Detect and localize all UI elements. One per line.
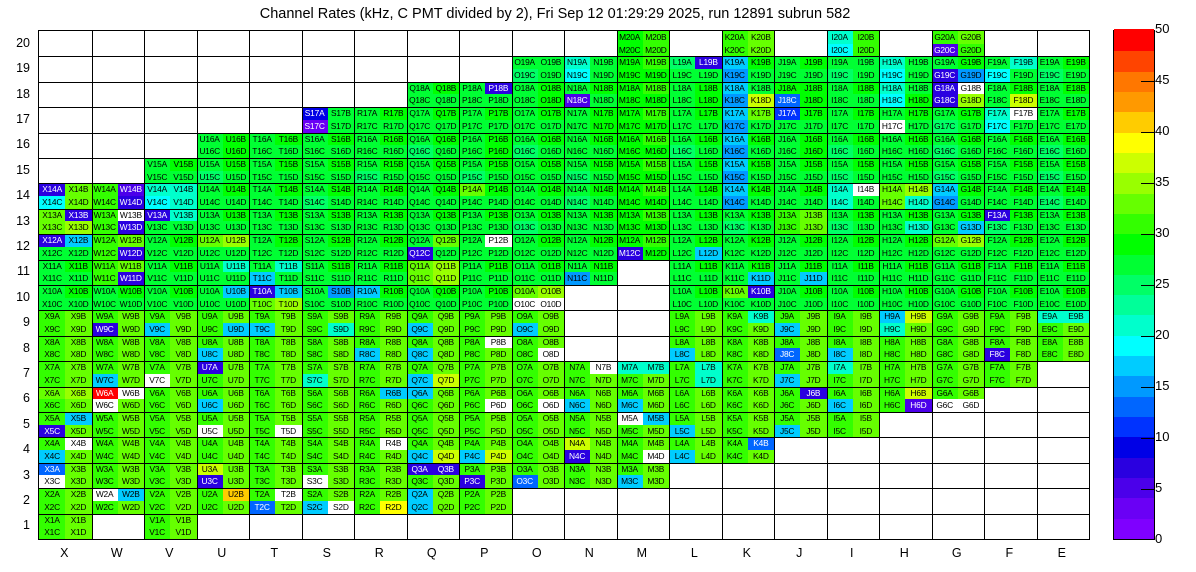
channel-pad: V15A [144, 158, 170, 171]
channel-pad: T2A [249, 488, 275, 501]
channel-pad: L11B [695, 260, 721, 273]
channel-pad: L12B [695, 234, 721, 247]
heatmap-cell: Q5AQ5BQ5CQ5D [407, 412, 460, 437]
channel-pad: Q15C [407, 171, 433, 184]
heatmap-cell: Q9AQ9BQ9CQ9D [407, 310, 460, 335]
channel-pad: S10B [328, 285, 354, 298]
channel-pad: K5B [748, 412, 774, 425]
channel-pad: P2A [459, 488, 485, 501]
channel-pad: F13C [984, 221, 1010, 234]
channel-pad: P15C [459, 171, 485, 184]
channel-pad: P8A [459, 336, 485, 349]
channel-pad: Q4B [433, 437, 459, 450]
channel-pad: H8C [879, 348, 905, 361]
channel-pad: L6D [695, 399, 721, 412]
x-tick-label: G [931, 546, 984, 560]
channel-pad: G18C [932, 94, 958, 107]
channel-pad: L17D [695, 120, 721, 133]
heatmap-cell: K9AK9BK9CK9D [722, 310, 775, 335]
channel-pad: L9B [695, 310, 721, 323]
channel-pad: T13D [275, 221, 301, 234]
channel-pad: O5B [538, 412, 564, 425]
channel-pad: X14C [39, 196, 65, 209]
channel-pad: Q2B [433, 488, 459, 501]
heatmap-cell: U6AU6BU6CU6D [197, 387, 250, 412]
channel-pad: R17A [354, 107, 380, 120]
channel-pad: M18D [643, 94, 669, 107]
heatmap-cell: N4AN4BN4CN4D [564, 437, 617, 462]
channel-pad: M13B [643, 209, 669, 222]
channel-pad: V5D [170, 425, 196, 438]
channel-pad: T2B [275, 488, 301, 501]
channel-pad: R14B [380, 183, 406, 196]
heatmap-cell: U7AU7BU7CU7D [197, 361, 250, 386]
heatmap-cell: J18AJ18BJ18CJ18D [774, 82, 827, 107]
channel-pad: Q14D [433, 196, 459, 209]
channel-pad: V14C [144, 196, 170, 209]
channel-pad: V10A [144, 285, 170, 298]
channel-pad: J13D [800, 221, 826, 234]
heatmap-cell: I15AI15BI15CI15D [827, 158, 880, 183]
channel-pad: T10C [249, 298, 275, 311]
heatmap-cell: R9AR9BR9CR9D [354, 310, 407, 335]
heatmap-cell: I7AI7BI7CI7D [827, 361, 880, 386]
x-tick-label: K [721, 546, 774, 560]
channel-pad: G15A [932, 158, 958, 171]
channel-pad: I8C [827, 348, 853, 361]
channel-pad: V11B [170, 260, 196, 273]
channel-pad: U10B [223, 285, 249, 298]
channel-pad: R7D [380, 374, 406, 387]
y-tick-label: 12 [0, 239, 30, 253]
channel-pad: G17B [958, 107, 984, 120]
channel-pad: R6D [380, 399, 406, 412]
channel-pad: O9D [538, 323, 564, 336]
channel-pad: L7B [695, 361, 721, 374]
channel-pad: I5D [853, 425, 879, 438]
channel-pad: H14C [879, 196, 905, 209]
heatmap-cell: V15AV15BV15CV15D [144, 158, 197, 183]
x-tick-label: J [773, 546, 826, 560]
channel-pad: H15A [879, 158, 905, 171]
heatmap-cell: E16AE16BE16CE16D [1037, 133, 1090, 158]
heatmap-cell: I8AI8BI8CI8D [827, 336, 880, 361]
channel-pad: J10D [800, 298, 826, 311]
channel-pad: E10B [1063, 285, 1089, 298]
channel-pad: K16A [722, 133, 748, 146]
heatmap-cell: G16AG16BG16CG16D [932, 133, 985, 158]
channel-pad: L16B [695, 133, 721, 146]
channel-pad: N18A [564, 82, 590, 95]
channel-pad: M16B [643, 133, 669, 146]
channel-pad: T3C [249, 475, 275, 488]
channel-pad: J15B [800, 158, 826, 171]
channel-pad: N12C [564, 247, 590, 260]
channel-pad: K13A [722, 209, 748, 222]
heatmap-cell: M3AM3BM3CM3D [617, 463, 670, 488]
channel-pad: F12D [1010, 247, 1036, 260]
channel-pad: G13A [932, 209, 958, 222]
channel-pad: I7C [827, 374, 853, 387]
channel-pad: P5C [459, 425, 485, 438]
channel-pad: I7B [853, 361, 879, 374]
channel-pad: K15D [748, 171, 774, 184]
channel-pad: Q8C [407, 348, 433, 361]
channel-pad: V10B [170, 285, 196, 298]
channel-pad: K6A [722, 387, 748, 400]
channel-pad: T3B [275, 463, 301, 476]
channel-pad: M7B [643, 361, 669, 374]
grid-row-separator [39, 514, 1089, 515]
x-tick-label: E [1036, 546, 1089, 560]
heatmap-cell: R16AR16BR16CR16D [354, 133, 407, 158]
channel-pad: H11D [905, 272, 931, 285]
channel-pad: G15D [958, 171, 984, 184]
heatmap-cell: U13AU13BU13CU13D [197, 209, 250, 234]
heatmap-cell: V6AV6BV6CV6D [144, 387, 197, 412]
channel-pad: F16A [984, 133, 1010, 146]
channel-pad: G14C [932, 196, 958, 209]
channel-pad: K7A [722, 361, 748, 374]
channel-pad: N16D [590, 145, 616, 158]
channel-pad: S3D [328, 475, 354, 488]
channel-pad: O11C [512, 272, 538, 285]
channel-pad: W11B [118, 260, 144, 273]
heatmap-cell: N3AN3BN3CN3D [564, 463, 617, 488]
channel-pad: S4D [328, 450, 354, 463]
channel-pad: P9C [459, 323, 485, 336]
channel-pad: E11A [1037, 260, 1063, 273]
channel-pad: P18A [459, 82, 485, 95]
heatmap-cell: P13AP13BP13CP13D [459, 209, 512, 234]
channel-pad: K10D [748, 298, 774, 311]
channel-pad: S9C [302, 323, 328, 336]
channel-pad: X5A [39, 412, 65, 425]
channel-pad: T16D [275, 145, 301, 158]
channel-pad: U8D [223, 348, 249, 361]
channel-pad: O6D [538, 399, 564, 412]
channel-pad: X3C [39, 475, 65, 488]
heatmap-cell: U11AU11BU11CU11D [197, 260, 250, 285]
channel-pad: O17C [512, 120, 538, 133]
channel-pad: Q8B [433, 336, 459, 349]
heatmap-cell: R7AR7BR7CR7D [354, 361, 407, 386]
heatmap-cell: S16AS16BS16CS16D [302, 133, 355, 158]
channel-pad: J14D [800, 196, 826, 209]
channel-pad: K4A [722, 437, 748, 450]
channel-pad: T4C [249, 450, 275, 463]
channel-pad: R11D [380, 272, 406, 285]
channel-pad: P18C [459, 94, 485, 107]
channel-pad: H18A [879, 82, 905, 95]
channel-pad: J16D [800, 145, 826, 158]
channel-pad: V7B [170, 361, 196, 374]
channel-pad: Q11C [407, 272, 433, 285]
channel-pad: X4C [39, 450, 65, 463]
channel-pad: N19A [564, 56, 590, 69]
heatmap-cell: N5AN5BN5CN5D [564, 412, 617, 437]
x-tick-label: T [248, 546, 301, 560]
color-swatch [1114, 375, 1154, 397]
channel-pad: I12A [827, 234, 853, 247]
heatmap-cell: O6AO6BO6CO6D [512, 387, 565, 412]
channel-pad: R8A [354, 336, 380, 349]
channel-pad: X11B [65, 260, 91, 273]
colorbar-tick-label: 45 [1155, 72, 1169, 87]
channel-pad: S5B [328, 412, 354, 425]
heatmap-cell: L10AL10BL10CL10D [669, 285, 722, 310]
heatmap-cell: S11AS11BS11CS11D [302, 260, 355, 285]
channel-pad: R2D [380, 501, 406, 514]
heatmap-cell: W8AW8BW8CW8D [92, 336, 145, 361]
heatmap-cell: I9AI9BI9CI9D [827, 310, 880, 335]
channel-pad: G12C [932, 247, 958, 260]
y-tick-label: 6 [0, 391, 30, 405]
channel-pad: G18D [958, 94, 984, 107]
channel-pad: U3C [197, 475, 223, 488]
channel-pad: O4C [512, 450, 538, 463]
grid-row-separator [39, 285, 1089, 286]
heatmap-cell: Q14AQ14BQ14CQ14D [407, 183, 460, 208]
heatmap-cell: O17AO17BO17CO17D [512, 107, 565, 132]
channel-pad: I7D [853, 374, 879, 387]
channel-pad: S2C [302, 501, 328, 514]
channel-pad: M16A [617, 133, 643, 146]
channel-pad: N19B [590, 56, 616, 69]
channel-pad: X11D [65, 272, 91, 285]
heatmap-cell: M20AM20BM20CM20D [617, 31, 670, 56]
channel-pad: J5C [774, 425, 800, 438]
heatmap-cell: L16AL16BL16CL16D [669, 133, 722, 158]
channel-pad: K14A [722, 183, 748, 196]
channel-pad: P10D [485, 298, 511, 311]
heatmap-cell: W14AW14BW14CW14D [92, 183, 145, 208]
heatmap-cell: O8AO8BO8CO8D [512, 336, 565, 361]
heatmap-cell: O12AO12BO12CO12D [512, 234, 565, 259]
channel-pad: T9B [275, 310, 301, 323]
heatmap-cell: U4AU4BU4CU4D [197, 437, 250, 462]
channel-pad: O14B [538, 183, 564, 196]
channel-pad: M12C [617, 247, 643, 260]
channel-pad: I16C [827, 145, 853, 158]
channel-pad: O13B [538, 209, 564, 222]
channel-pad: L5B [695, 412, 721, 425]
channel-pad: W12A [92, 234, 118, 247]
channel-pad: I17A [827, 107, 853, 120]
channel-pad: K17C [722, 120, 748, 133]
channel-pad: P17A [459, 107, 485, 120]
channel-pad: N7B [590, 361, 616, 374]
channel-pad: I12B [853, 234, 879, 247]
channel-pad: W2C [92, 501, 118, 514]
heatmap-cell: X12AX12BX12CX12D [39, 234, 92, 259]
heatmap-cell: I14AI14BI14CI14D [827, 183, 880, 208]
heatmap-cell: W13AW13BW13CW13D [92, 209, 145, 234]
channel-pad: J15D [800, 171, 826, 184]
channel-pad: G7A [932, 361, 958, 374]
channel-pad: U16A [197, 133, 223, 146]
channel-pad: G20A [932, 31, 958, 44]
channel-pad: K17D [748, 120, 774, 133]
heatmap-cell: X7AX7BX7CX7D [39, 361, 92, 386]
channel-pad: X11A [39, 260, 65, 273]
channel-pad: P17D [485, 120, 511, 133]
channel-pad: E19D [1063, 69, 1089, 82]
channel-pad: U6C [197, 399, 223, 412]
channel-pad: J11D [800, 272, 826, 285]
heatmap-cell: E18AE18BE18CE18D [1037, 82, 1090, 107]
heatmap-cell: L19AL19BL19CL19D [669, 56, 722, 81]
channel-pad: V7D [170, 374, 196, 387]
channel-pad: V13B [170, 209, 196, 222]
channel-pad: E13C [1037, 221, 1063, 234]
channel-pad: O16C [512, 145, 538, 158]
channel-pad: G20C [932, 44, 958, 57]
channel-pad: N15D [590, 171, 616, 184]
heatmap-cell: N13AN13BN13CN13D [564, 209, 617, 234]
channel-pad: I14A [827, 183, 853, 196]
channel-pad: V15D [170, 171, 196, 184]
y-tick-label: 5 [0, 417, 30, 431]
channel-pad: X13A [39, 209, 65, 222]
channel-pad: G17D [958, 120, 984, 133]
channel-pad: K11D [748, 272, 774, 285]
channel-pad: J14A [774, 183, 800, 196]
channel-pad: K7B [748, 361, 774, 374]
channel-pad: F10A [984, 285, 1010, 298]
heatmap-cell: W7AW7BW7CW7D [92, 361, 145, 386]
heatmap-cell: J12AJ12BJ12CJ12D [774, 234, 827, 259]
color-swatch [1114, 192, 1154, 214]
heatmap-cell: I6AI6BI6CI6D [827, 387, 880, 412]
channel-pad: J11B [800, 260, 826, 273]
channel-pad: U13B [223, 209, 249, 222]
channel-pad: X3A [39, 463, 65, 476]
color-swatch [1114, 212, 1154, 234]
colorbar-tick-label: 20 [1155, 327, 1169, 342]
channel-pad: L11D [695, 272, 721, 285]
channel-pad: I19B [853, 56, 879, 69]
channel-pad: J15C [774, 171, 800, 184]
channel-pad: J18B [800, 82, 826, 95]
channel-pad: N5A [564, 412, 590, 425]
channel-pad: N15C [564, 171, 590, 184]
channel-pad: E10C [1037, 298, 1063, 311]
heatmap-cell: K13AK13BK13CK13D [722, 209, 775, 234]
channel-pad: G20D [958, 44, 984, 57]
channel-pad: N5B [590, 412, 616, 425]
heatmap-cell: E10AE10BE10CE10D [1037, 285, 1090, 310]
heatmap-cell: R2AR2BR2CR2D [354, 488, 407, 513]
channel-pad: G15C [932, 171, 958, 184]
channel-pad: M18B [643, 82, 669, 95]
channel-pad: I14C [827, 196, 853, 209]
channel-pad: L14D [695, 196, 721, 209]
channel-pad: E11C [1037, 272, 1063, 285]
heatmap-cell: Q17AQ17BQ17CQ17D [407, 107, 460, 132]
channel-pad: V5A [144, 412, 170, 425]
channel-pad: F12C [984, 247, 1010, 260]
channel-pad: E16A [1037, 133, 1063, 146]
channel-pad: X9C [39, 323, 65, 336]
channel-pad: S3C [302, 475, 328, 488]
heatmap-cell: H19AH19BH19CH19D [879, 56, 932, 81]
channel-pad: L9A [669, 310, 695, 323]
heatmap-cell: T11AT11BT11CT11D [249, 260, 302, 285]
heatmap-cell: U15AU15BU15CU15D [197, 158, 250, 183]
colorbar-tick-label: 25 [1155, 276, 1169, 291]
channel-pad: P11A [459, 260, 485, 273]
channel-pad: Q2C [407, 501, 433, 514]
y-tick-label: 8 [0, 341, 30, 355]
channel-pad: G9D [958, 323, 984, 336]
heatmap-cell: N16AN16BN16CN16D [564, 133, 617, 158]
channel-pad: M5A [617, 412, 643, 425]
channel-pad: M6B [643, 387, 669, 400]
channel-pad: H15B [905, 158, 931, 171]
channel-pad: J14C [774, 196, 800, 209]
channel-pad: K15C [722, 171, 748, 184]
color-swatch [1114, 497, 1154, 519]
channel-pad: P6C [459, 399, 485, 412]
channel-pad: G6A [932, 387, 958, 400]
colorbar-tick-label: 0 [1155, 531, 1162, 546]
channel-pad: G12B [958, 234, 984, 247]
y-tick-label: 3 [0, 468, 30, 482]
channel-pad: K20C [722, 44, 748, 57]
channel-pad: F8B [1010, 336, 1036, 349]
channel-pad: K16B [748, 133, 774, 146]
channel-pad: S7D [328, 374, 354, 387]
channel-pad: E14D [1063, 196, 1089, 209]
channel-pad: G12A [932, 234, 958, 247]
heatmap-cell: E19AE19BE19CE19D [1037, 56, 1090, 81]
channel-pad: X3D [65, 475, 91, 488]
y-tick-label: 11 [0, 264, 30, 278]
channel-pad: W7D [118, 374, 144, 387]
channel-pad: R7C [354, 374, 380, 387]
heatmap-cell: R17AR17BR17CR17D [354, 107, 407, 132]
channel-pad: W3D [118, 475, 144, 488]
channel-pad: Q16C [407, 145, 433, 158]
heatmap-cell: G6AG6BG6CG6D [932, 387, 985, 412]
heatmap-cell: P14AP14BP14CP14D [459, 183, 512, 208]
colorbar-tick-mark [1141, 438, 1155, 439]
channel-pad: I19D [853, 69, 879, 82]
channel-pad: H16B [905, 133, 931, 146]
channel-pad: U16C [197, 145, 223, 158]
channel-pad: V13C [144, 221, 170, 234]
channel-pad: R9A [354, 310, 380, 323]
channel-pad: S3B [328, 463, 354, 476]
channel-pad: R15A [354, 158, 380, 171]
channel-pad: K13B [748, 209, 774, 222]
channel-pad: G7C [932, 374, 958, 387]
channel-pad: G19C [932, 69, 958, 82]
channel-pad: P13D [485, 221, 511, 234]
channel-pad: P3A [459, 463, 485, 476]
heatmap-cell: O5AO5BO5CO5D [512, 412, 565, 437]
heatmap-cell: T3AT3BT3CT3D [249, 463, 302, 488]
channel-pad: P10B [485, 285, 511, 298]
heatmap-cell: X1AX1BX1CX1D [39, 514, 92, 539]
channel-pad: K14C [722, 196, 748, 209]
heatmap-cell: O9AO9BO9CO9D [512, 310, 565, 335]
channel-pad: R12A [354, 234, 380, 247]
channel-pad: R16A [354, 133, 380, 146]
x-tick-label: O [511, 546, 564, 560]
channel-pad: L9C [669, 323, 695, 336]
